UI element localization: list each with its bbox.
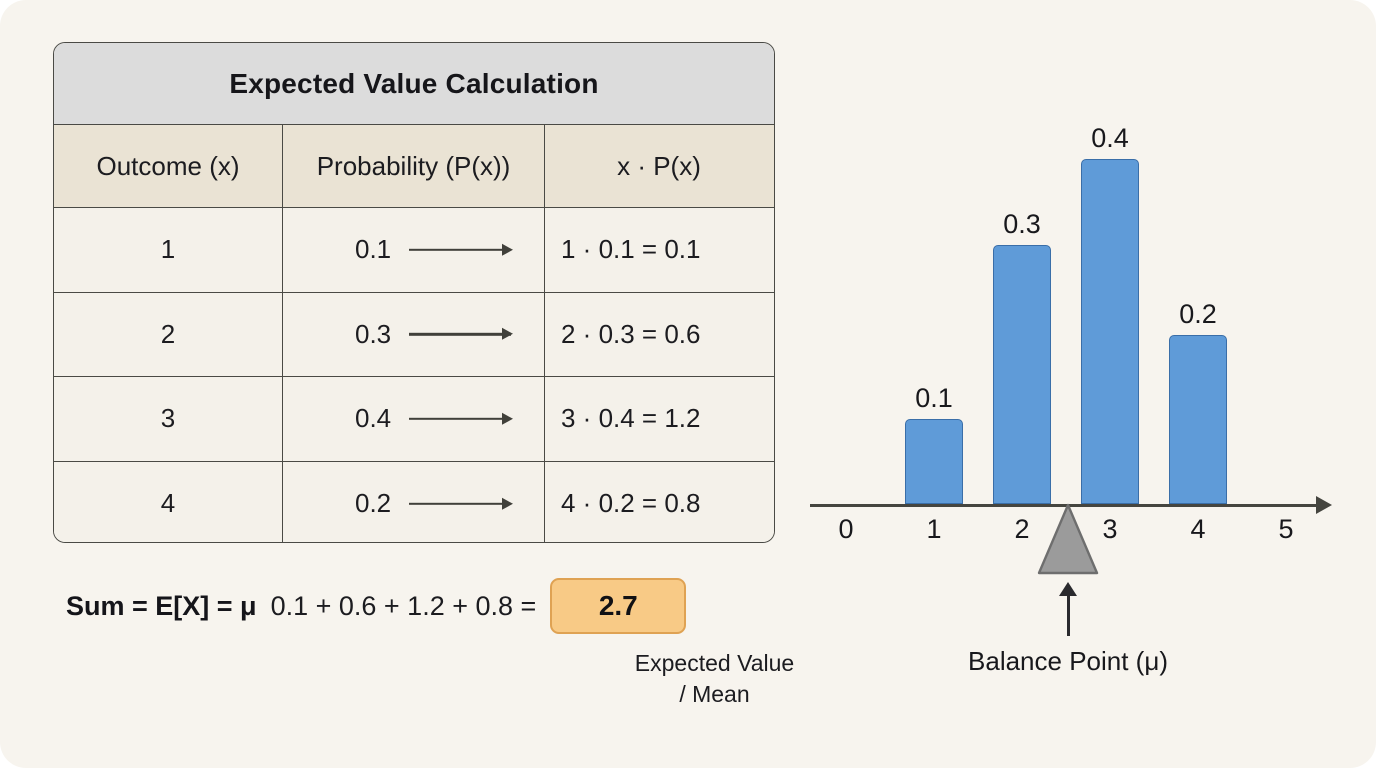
cell-product: 1 · 0.1 = 0.1 — [545, 208, 773, 292]
cell-outcome: 2 — [54, 293, 283, 377]
arrow-right-icon — [409, 333, 511, 335]
bar-value-x2: 0.3 — [977, 209, 1067, 240]
bar-value-x3: 0.4 — [1065, 123, 1155, 154]
sum-line: Sum = E[X] = μ 0.1 + 0.6 + 1.2 + 0.8 = 2… — [66, 578, 686, 634]
probability-value: 0.4 — [355, 403, 391, 434]
bar-value-x1: 0.1 — [889, 383, 979, 414]
probability-value: 0.3 — [355, 319, 391, 350]
cell-probability: 0.4 — [283, 377, 545, 461]
balance-point-label: Balance Point (μ) — [918, 646, 1218, 677]
table-row: 3 0.4 3 · 0.4 = 1.2 — [54, 377, 774, 462]
sum-label: Sum = E[X] = μ — [66, 591, 257, 622]
cell-outcome: 3 — [54, 377, 283, 461]
probability-value: 0.1 — [355, 234, 391, 265]
x-axis-arrow-icon — [1316, 496, 1332, 514]
expected-value-badge: 2.7 — [550, 578, 686, 634]
expected-value-table: Expected Value Calculation Outcome (x) P… — [53, 42, 775, 543]
arrow-right-icon — [409, 418, 511, 420]
table-row: 2 0.3 2 · 0.3 = 0.6 — [54, 293, 774, 378]
x-tick-0: 0 — [816, 514, 876, 545]
x-tick-5: 5 — [1256, 514, 1316, 545]
probability-bar-chart: 0.1 0.3 0.4 0.2 0 1 2 3 4 5 Balance Poin… — [800, 100, 1345, 700]
bar-x2 — [993, 245, 1051, 504]
balance-point-triangle-icon — [1037, 503, 1099, 575]
cell-outcome: 4 — [54, 462, 283, 544]
balance-pointer-stem — [1067, 590, 1070, 636]
cell-probability: 0.2 — [283, 462, 545, 544]
cell-outcome: 1 — [54, 208, 283, 292]
diagram-canvas: Expected Value Calculation Outcome (x) P… — [0, 0, 1376, 768]
sum-expression: 0.1 + 0.6 + 1.2 + 0.8 = — [271, 591, 537, 622]
cell-probability: 0.3 — [283, 293, 545, 377]
balance-pointer-arrow-icon — [1059, 582, 1077, 596]
arrow-right-icon — [409, 249, 511, 251]
cell-product: 2 · 0.3 = 0.6 — [545, 293, 773, 377]
table-title: Expected Value Calculation — [54, 43, 774, 125]
cell-product: 4 · 0.2 = 0.8 — [545, 462, 773, 544]
cell-probability: 0.1 — [283, 208, 545, 292]
column-header-probability: Probability (P(x)) — [283, 125, 545, 207]
column-header-product: x · P(x) — [545, 125, 773, 207]
column-header-outcome: Outcome (x) — [54, 125, 283, 207]
table-header-row: Outcome (x) Probability (P(x)) x · P(x) — [54, 125, 774, 208]
bar-x3 — [1081, 159, 1139, 504]
table-row: 1 0.1 1 · 0.1 = 0.1 — [54, 208, 774, 293]
x-tick-4: 4 — [1168, 514, 1228, 545]
x-tick-1: 1 — [904, 514, 964, 545]
arrow-right-icon — [409, 503, 511, 505]
bar-x4 — [1169, 335, 1227, 504]
bar-value-x4: 0.2 — [1153, 299, 1243, 330]
probability-value: 0.2 — [355, 488, 391, 519]
bar-x1 — [905, 419, 963, 504]
table-row: 4 0.2 4 · 0.2 = 0.8 — [54, 462, 774, 544]
cell-product: 3 · 0.4 = 1.2 — [545, 377, 773, 461]
